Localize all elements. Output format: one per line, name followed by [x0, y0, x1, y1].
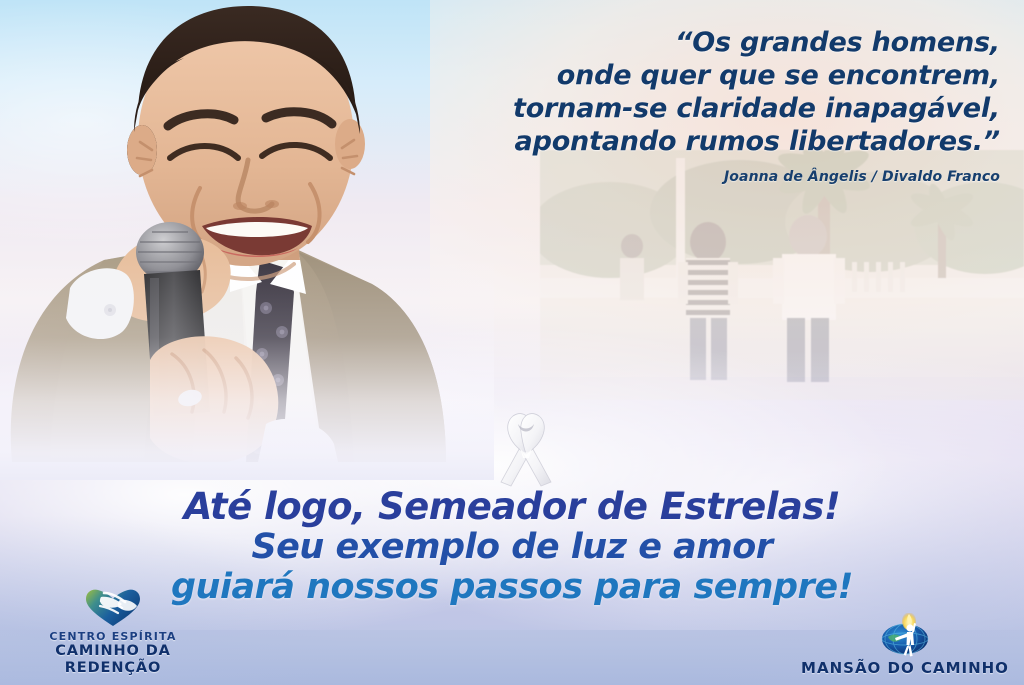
- quote-block: “Os grandes homens, onde quer que se enc…: [380, 26, 1000, 185]
- globe-figure-torch-icon: [879, 613, 931, 657]
- tribute-poster: “Os grandes homens, onde quer que se enc…: [0, 0, 1024, 685]
- ribbon-icon: [487, 408, 565, 488]
- quote-line-3: tornam-se claridade inapagável,: [380, 92, 1000, 125]
- quote-line-1: “Os grandes homens,: [380, 26, 1000, 59]
- heart-hands-icon: [84, 588, 142, 628]
- logo-left-line-1: CENTRO ESPÍRITA: [8, 630, 218, 643]
- message-line-2: Seu exemplo de luz e amor: [0, 527, 1024, 567]
- logo-right-line-1: MANSÃO DO CAMINHO: [790, 659, 1020, 677]
- background-person-distant: [620, 234, 644, 300]
- white-mourning-ribbon-icon: [487, 408, 565, 488]
- quote-line-4: apontando rumos libertadores.”: [380, 125, 1000, 158]
- quote-line-2: onde quer que se encontrem,: [380, 59, 1000, 92]
- message-line-1: Até logo, Semeador de Estrelas!: [0, 486, 1024, 527]
- logo-mansao-do-caminho: MANSÃO DO CAMINHO: [790, 613, 1020, 677]
- quote-attribution: Joanna de Ângelis / Divaldo Franco: [380, 169, 1000, 185]
- logo-centro-espirita-caminho-da-redencao: CENTRO ESPÍRITA CAMINHO DA REDENÇÃO: [8, 588, 218, 677]
- logo-left-line-2: CAMINHO DA REDENÇÃO: [8, 643, 218, 677]
